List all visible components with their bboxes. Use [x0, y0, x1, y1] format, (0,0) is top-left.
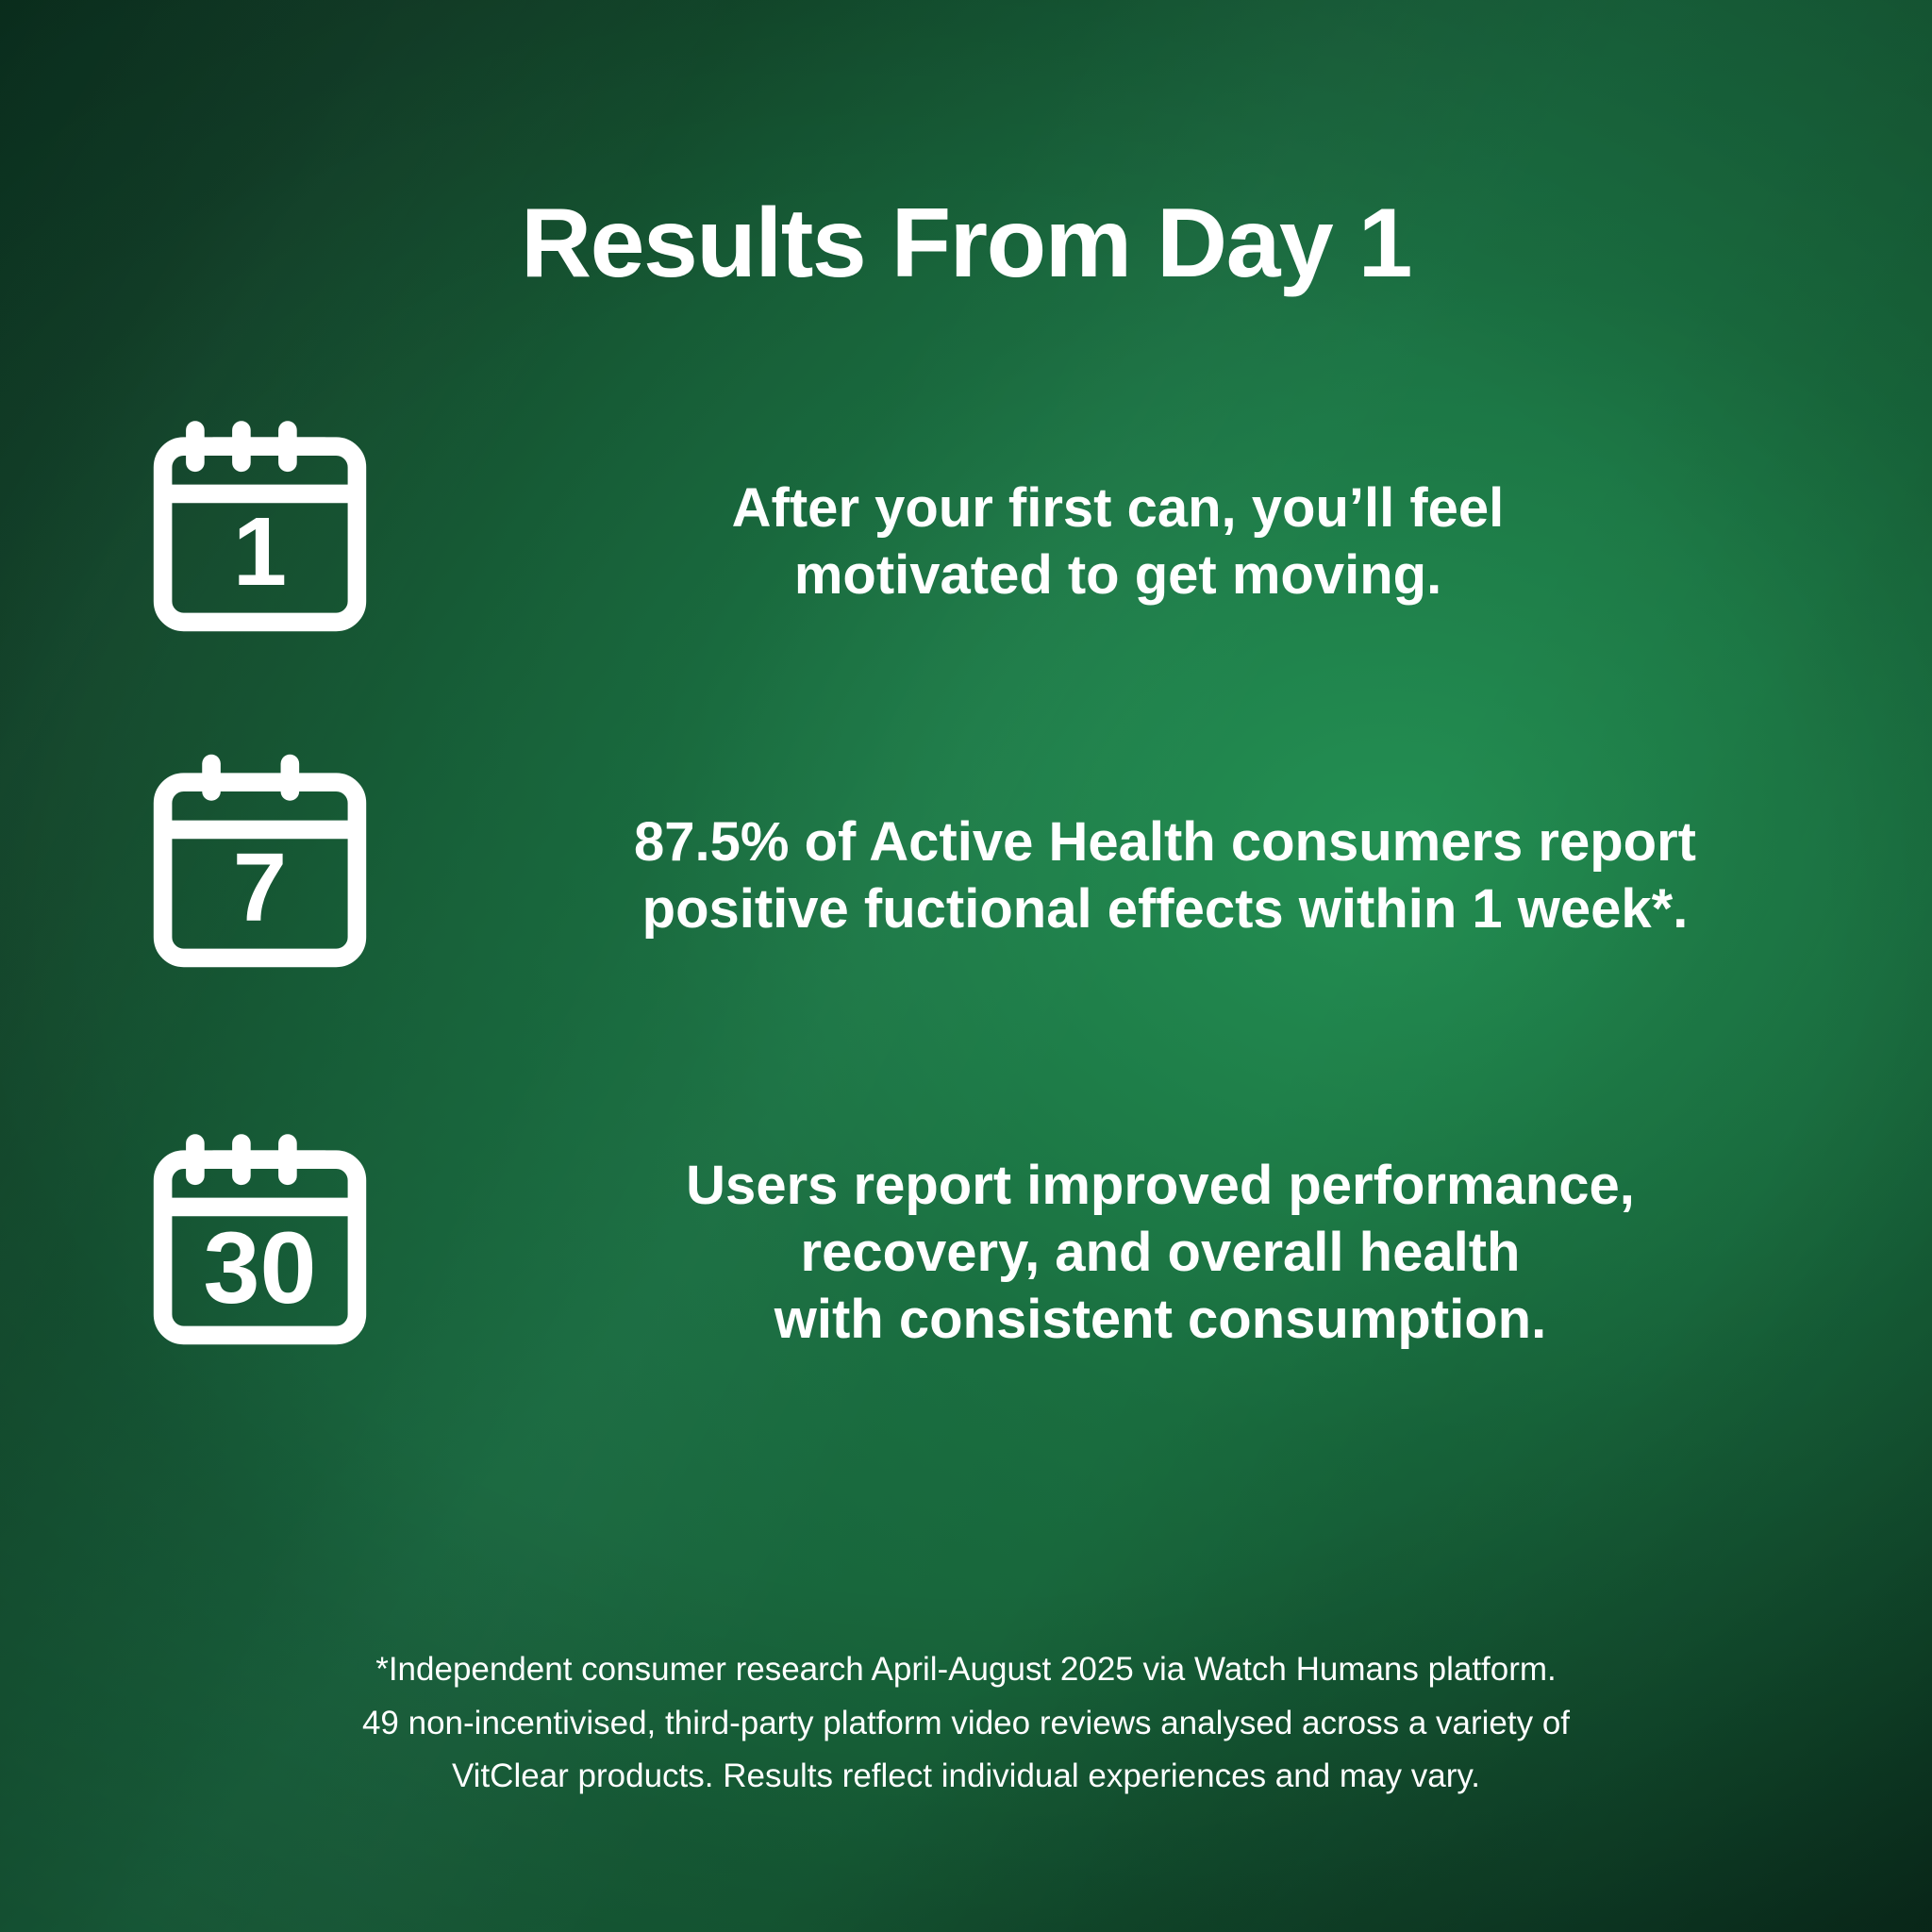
calendar-icon-day-1: 1 — [123, 409, 396, 641]
calendar-day-number: 30 — [203, 1210, 316, 1324]
benefit-text-day-30: Users report improved performance, recov… — [528, 1153, 1792, 1353]
calendar-day-number: 1 — [232, 497, 286, 606]
footnote-line: 49 non-incentivised, third-party platfor… — [0, 1697, 1932, 1751]
footnote-line: VitClear products. Results reflect indiv… — [0, 1750, 1932, 1804]
poster-content: Results From Day 1 — [0, 0, 1932, 1932]
benefit-row-day-1: 1 After your first can, you’ll feel moti… — [0, 394, 1932, 706]
benefit-line: with consistent consumption. — [528, 1287, 1792, 1354]
calendar-day-number: 7 — [232, 833, 286, 941]
benefit-line: 87.5% of Active Health consumers report — [491, 809, 1840, 876]
benefit-line: positive fuctional effects within 1 week… — [491, 876, 1840, 943]
page-title: Results From Day 1 — [0, 191, 1932, 296]
benefit-row-day-7: 7 87.5% of Active Health consumers repor… — [0, 706, 1932, 1102]
benefit-text-day-1: After your first can, you’ll feel motiva… — [585, 475, 1651, 609]
calendar-icon-day-7: 7 — [123, 745, 396, 976]
calendar-icon-day-30: 30 — [123, 1123, 396, 1354]
benefit-line: After your first can, you’ll feel — [585, 475, 1651, 542]
benefit-rows: 1 After your first can, you’ll feel moti… — [0, 394, 1932, 1413]
footnote-disclaimer: *Independent consumer research April-Aug… — [0, 1643, 1932, 1804]
benefit-text-day-7: 87.5% of Active Health consumers report … — [491, 809, 1840, 943]
benefit-line: recovery, and overall health — [528, 1220, 1792, 1287]
benefit-line: Users report improved performance, — [528, 1153, 1792, 1220]
benefit-row-day-30: 30 Users report improved performance, re… — [0, 1102, 1932, 1413]
benefit-line: motivated to get moving. — [585, 542, 1651, 609]
footnote-line: *Independent consumer research April-Aug… — [0, 1643, 1932, 1697]
promo-poster: Results From Day 1 — [0, 0, 1932, 1932]
